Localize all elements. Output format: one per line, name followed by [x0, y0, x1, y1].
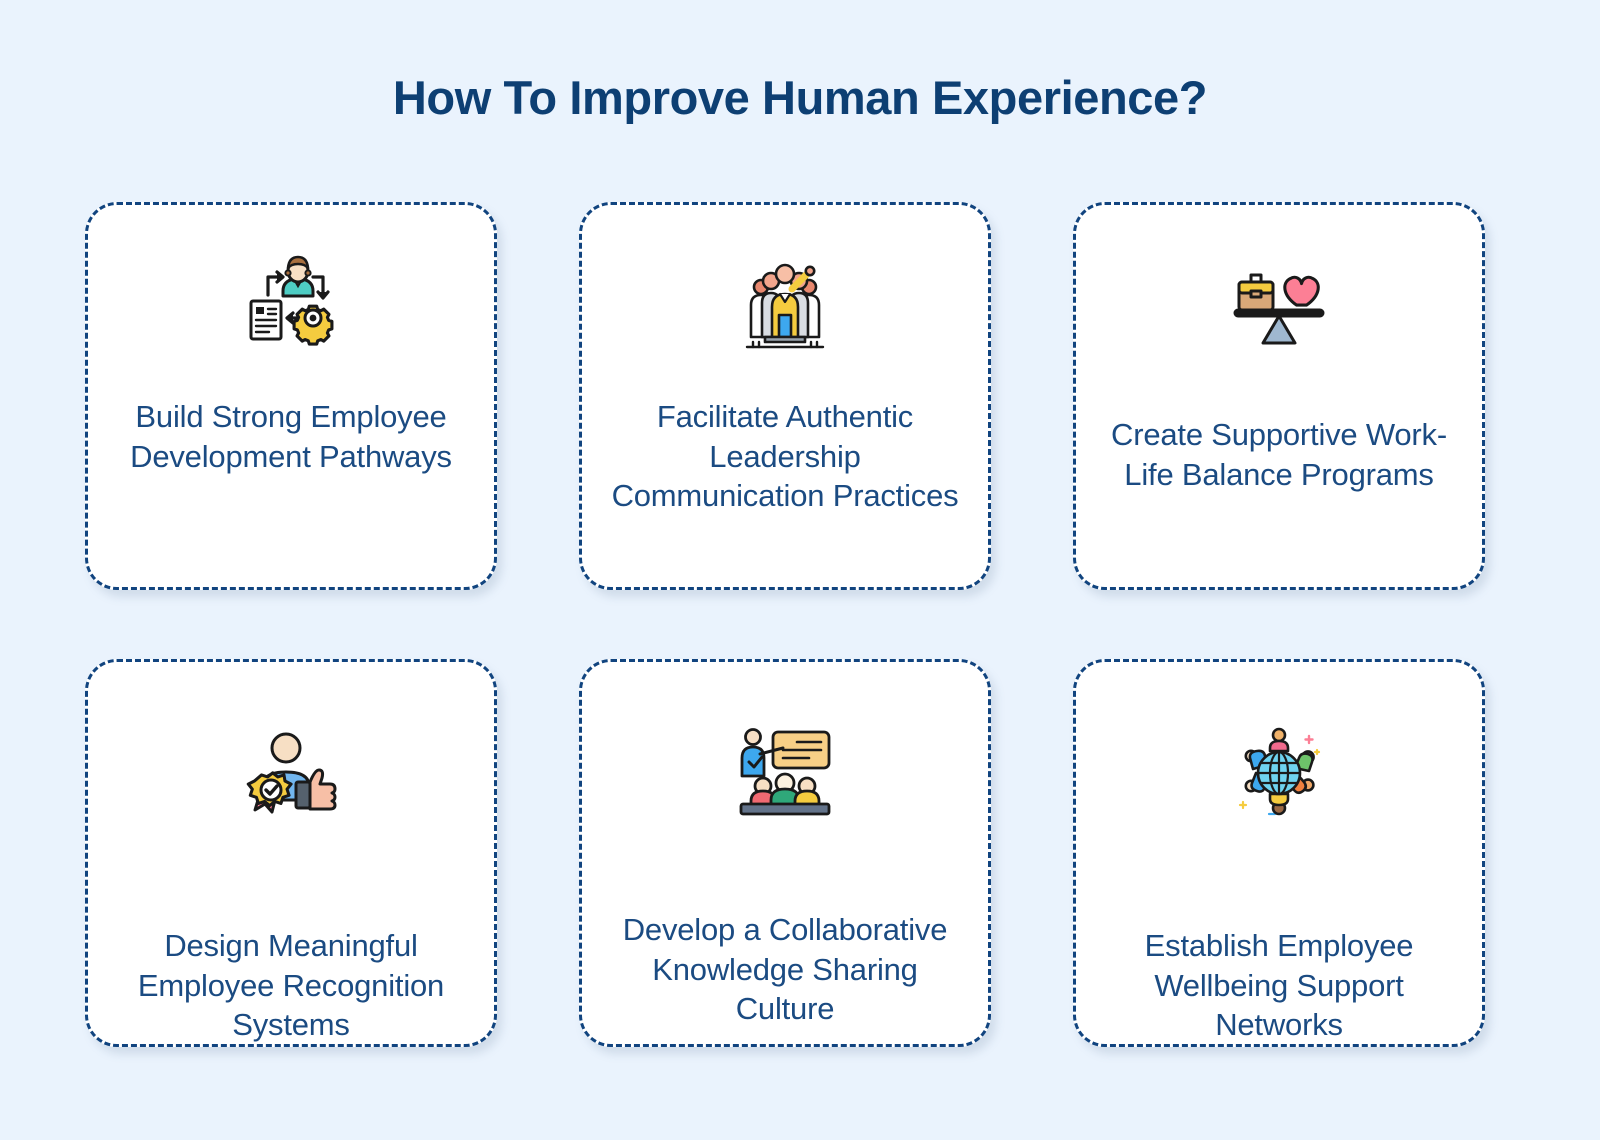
card-label: Facilitate Authentic Leadership Communic…	[604, 397, 966, 516]
card-create-supportive-work-life-balance-programs[interactable]: Create Supportive Work-Life Balance Prog…	[1073, 202, 1485, 590]
card-grid: Build Strong Employee Development Pathwa…	[85, 202, 1513, 1047]
employee-development-cycle-icon	[237, 253, 345, 353]
employee-award-thumbsup-icon	[237, 722, 345, 822]
card-build-strong-employee-development-pathways[interactable]: Build Strong Employee Development Pathwa…	[85, 202, 497, 590]
leadership-team-icon	[731, 253, 839, 353]
card-design-meaningful-employee-recognition-systems[interactable]: Design Meaningful Employee Recognition S…	[85, 659, 497, 1047]
card-facilitate-authentic-leadership-communication-practices[interactable]: Facilitate Authentic Leadership Communic…	[579, 202, 991, 590]
card-develop-a-collaborative-knowledge-sharing-culture[interactable]: Develop a Collaborative Knowledge Sharin…	[579, 659, 991, 1047]
work-life-balance-scale-icon	[1225, 253, 1333, 353]
global-people-network-icon	[1225, 722, 1333, 822]
infographic-page: How To Improve Human Experience?	[0, 0, 1600, 1140]
card-label: Establish Employee Wellbeing Support Net…	[1098, 926, 1460, 1045]
card-label: Create Supportive Work-Life Balance Prog…	[1098, 415, 1460, 494]
card-label: Design Meaningful Employee Recognition S…	[110, 926, 472, 1045]
presentation-training-icon	[731, 722, 839, 822]
card-label: Develop a Collaborative Knowledge Sharin…	[604, 910, 966, 1029]
card-label: Build Strong Employee Development Pathwa…	[110, 397, 472, 476]
card-establish-employee-wellbeing-support-networks[interactable]: Establish Employee Wellbeing Support Net…	[1073, 659, 1485, 1047]
page-title: How To Improve Human Experience?	[0, 0, 1600, 124]
